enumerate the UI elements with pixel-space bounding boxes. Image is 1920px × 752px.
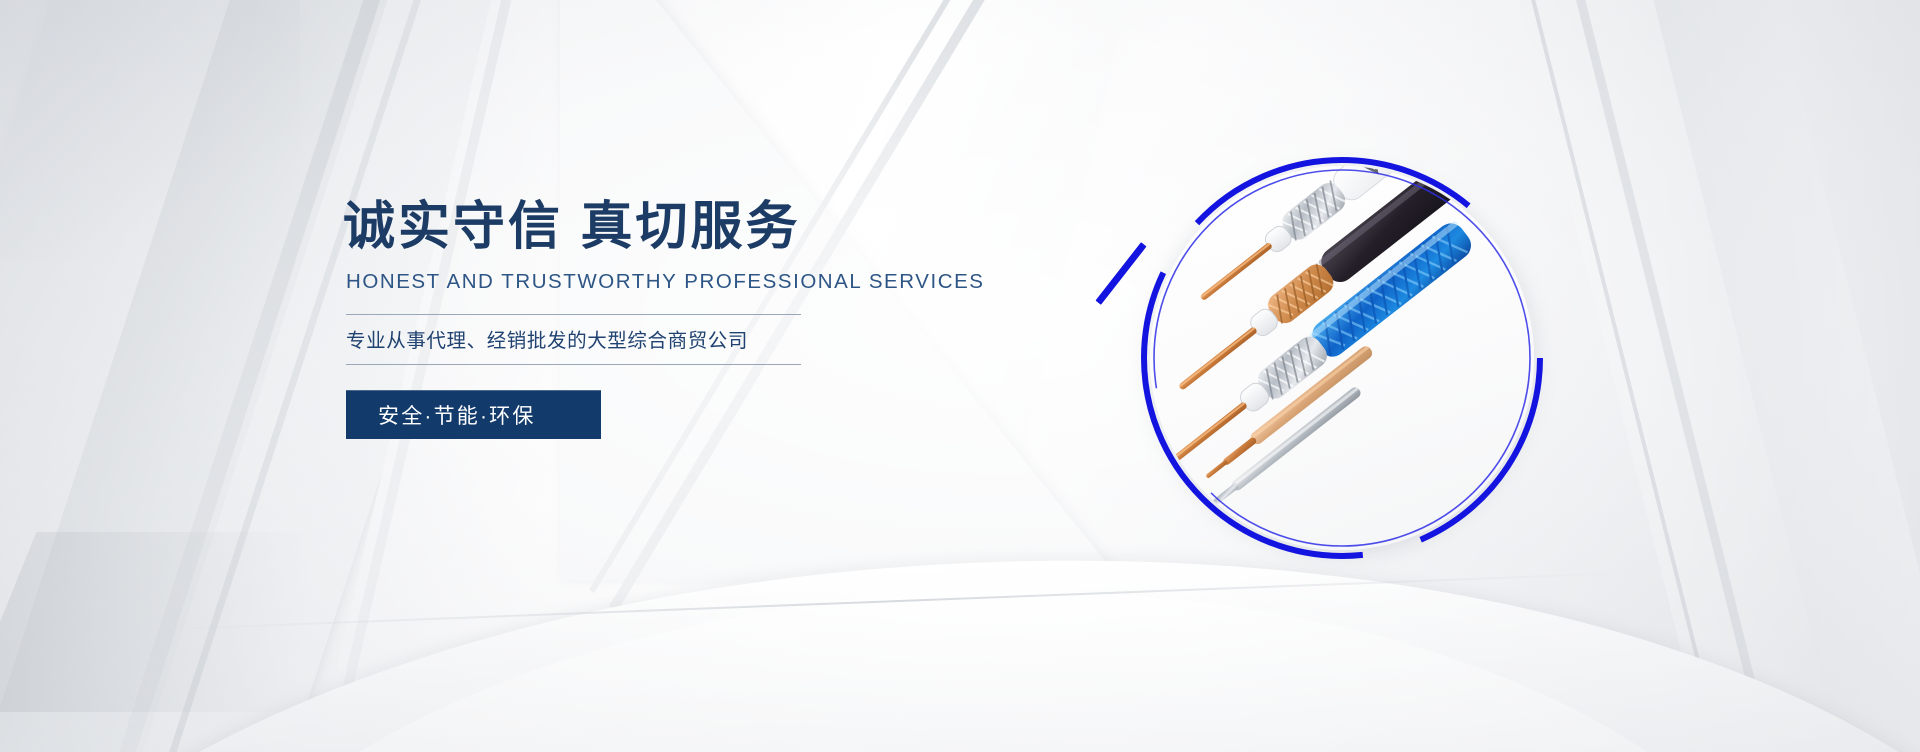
banner-text-block: 诚实守信 真切服务 HONEST AND TRUSTWORTHY PROFESS… xyxy=(343,198,903,439)
banner-subhead-english: HONEST AND TRUSTWORTHY PROFESSIONAL SERV… xyxy=(346,270,903,294)
banner-tagline-rule-box: 专业从事代理、经销批发的大型综合商贸公司 xyxy=(346,314,801,365)
banner-headline: 诚实守信 真切服务 xyxy=(343,198,903,256)
chevron-notch-icon xyxy=(601,390,641,439)
hero-banner: 诚实守信 真切服务 HONEST AND TRUSTWORTHY PROFESS… xyxy=(0,0,1920,752)
banner-tagline: 专业从事代理、经销批发的大型综合商贸公司 xyxy=(346,324,801,353)
banner-feature-ribbon[interactable]: 安全·节能·环保 xyxy=(346,390,601,439)
ribbon-label: 安全·节能·环保 xyxy=(346,400,536,430)
bg-vignette xyxy=(0,0,1920,752)
banner-media xyxy=(1132,148,1552,568)
